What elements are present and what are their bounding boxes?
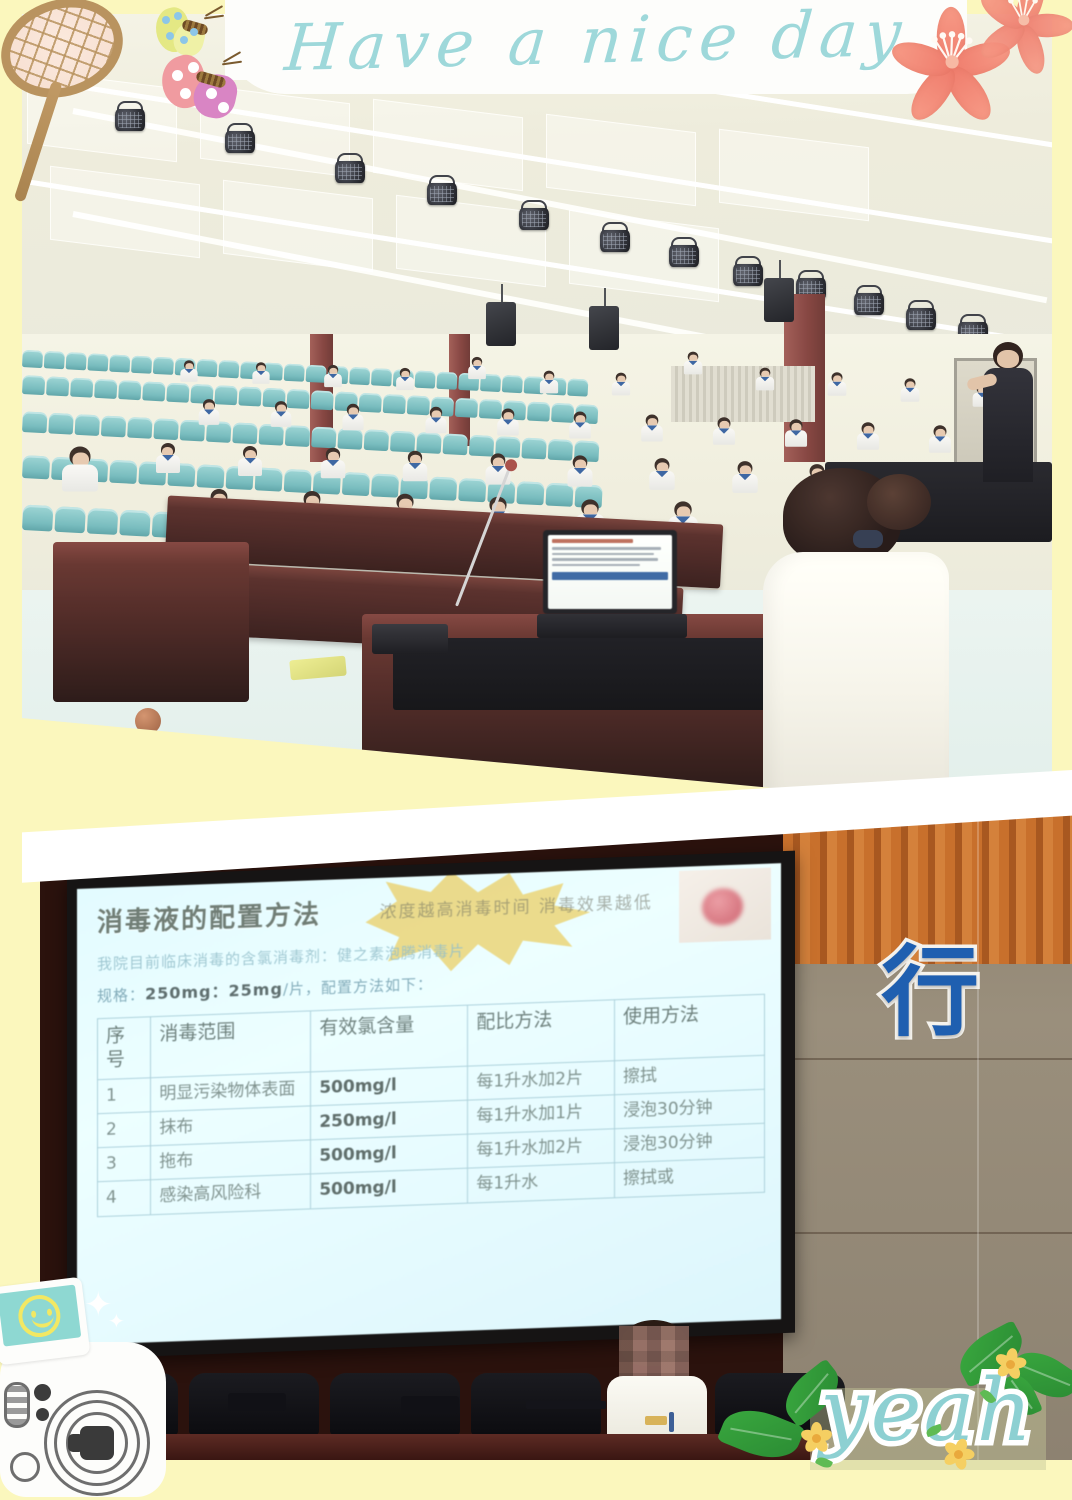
side-desk xyxy=(53,542,249,702)
yeah-text: yeah xyxy=(820,1368,1034,1454)
cell-chlorine: 250mg/l xyxy=(311,1100,468,1140)
th-chlorine: 有效氯含量 xyxy=(311,1005,468,1071)
cell-chlorine: 500mg/l xyxy=(311,1168,468,1208)
cell-ratio: 每1升水加2片 xyxy=(468,1060,615,1100)
audience-member xyxy=(180,360,197,382)
cell-index: 2 xyxy=(97,1111,150,1147)
stage-light xyxy=(904,300,938,330)
cell-usage: 浸泡30分钟 xyxy=(614,1089,764,1129)
polaroid-photo xyxy=(0,1277,90,1366)
spec-value: 250mg：25mg xyxy=(145,979,283,1003)
camera-sensor-icon xyxy=(36,1408,49,1421)
wall-character-xing: 行 xyxy=(881,944,979,1042)
audience-member xyxy=(425,407,446,433)
audience-member-front-left xyxy=(62,447,98,492)
cell-index: 3 xyxy=(97,1145,150,1181)
flower-icon xyxy=(800,1422,832,1454)
camera-flash-icon xyxy=(4,1382,30,1428)
flower-icon xyxy=(942,1438,974,1470)
audience-member xyxy=(396,368,414,390)
audience-member xyxy=(199,399,220,425)
th-ratio: 配比方法 xyxy=(468,999,615,1065)
audience-member xyxy=(320,448,344,479)
cell-scope: 拖布 xyxy=(151,1140,311,1180)
audience-member xyxy=(567,456,592,487)
desk-microphone xyxy=(228,1393,286,1411)
scrapbook-page: 行 消毒液的配置方法 浓度越高消毒时间 消毒效果越低 我院目前临床消毒的含氯消毒… xyxy=(0,0,1072,1500)
butterfly-net-icon xyxy=(0,0,144,204)
cell-scope: 抹布 xyxy=(151,1105,311,1145)
audience-member xyxy=(343,404,364,430)
sparkle-icon: ✦ xyxy=(108,1312,125,1332)
cell-chlorine: 500mg/l xyxy=(311,1134,468,1174)
cell-ratio: 每1升水 xyxy=(468,1163,615,1203)
th-scope: 消毒范围 xyxy=(151,1011,311,1077)
cell-ratio: 每1升水加2片 xyxy=(468,1128,615,1168)
name-badge xyxy=(645,1416,667,1425)
camera-sensor-icon xyxy=(34,1384,51,1401)
cell-index: 4 xyxy=(97,1180,150,1216)
audience-member xyxy=(324,365,342,387)
lily-flower xyxy=(974,0,1072,71)
spec-prefix: 规格： xyxy=(97,985,145,1005)
stage-light xyxy=(333,153,367,183)
disinfectant-table: 序号 消毒范围 有效氯含量 配比方法 使用方法 1 明显 xyxy=(97,993,765,1216)
photo-collage: 行 消毒液的配置方法 浓度越高消毒时间 消毒效果越低 我院目前临床消毒的含氯消毒… xyxy=(22,0,1072,1460)
stage-light xyxy=(852,285,886,315)
audience-member xyxy=(271,401,292,427)
stage-light xyxy=(425,175,459,205)
butterfly-pink-icon xyxy=(160,52,256,122)
instant-camera-sticker: ✦ ✦ xyxy=(0,1268,172,1500)
audience-member xyxy=(540,370,558,393)
audience-member xyxy=(900,378,919,401)
nurse-presenter xyxy=(749,468,949,798)
spec-suffix: /片，配置方法如下： xyxy=(283,975,433,999)
audience-member xyxy=(684,351,702,374)
microphone-base xyxy=(372,624,448,654)
stage-light xyxy=(667,237,701,267)
cell-usage: 浸泡30分钟 xyxy=(614,1123,764,1163)
stage-light xyxy=(517,200,551,230)
audience-member xyxy=(252,363,269,385)
staff-member-standing xyxy=(979,342,1037,482)
audience-member xyxy=(828,373,847,396)
th-usage: 使用方法 xyxy=(614,994,764,1060)
cell-scope: 感染高风险科 xyxy=(151,1174,311,1214)
audience-member xyxy=(641,414,663,441)
audience-member xyxy=(857,422,879,450)
camera-lens-icon xyxy=(80,1426,114,1460)
cell-chlorine: 500mg/l xyxy=(311,1065,468,1105)
th-index: 序号 xyxy=(97,1016,150,1078)
projection-screen-frame: 消毒液的配置方法 浓度越高消毒时间 消毒效果越低 我院目前临床消毒的含氯消毒剂：… xyxy=(67,850,795,1359)
speaker-box xyxy=(764,278,794,322)
cell-usage: 擦拭 xyxy=(614,1054,764,1094)
audience-member xyxy=(468,357,486,379)
lily-flowers-icon xyxy=(888,0,1072,124)
cell-usage: 擦拭或 xyxy=(614,1157,764,1197)
stage-light xyxy=(223,123,257,153)
audience-member xyxy=(785,420,807,448)
cell-index: 1 xyxy=(97,1077,150,1113)
audience-member xyxy=(403,451,427,482)
audience-member xyxy=(497,409,519,436)
audience-member xyxy=(569,412,591,439)
audience-member xyxy=(650,458,675,490)
laptop-lid xyxy=(526,1401,606,1409)
audience-member xyxy=(713,417,735,445)
desk-microphone xyxy=(401,1396,459,1414)
smiley-face-icon xyxy=(16,1292,63,1339)
audience-member xyxy=(756,368,774,391)
audience-member xyxy=(612,373,630,396)
audience-member xyxy=(929,425,951,453)
flower-icon xyxy=(994,1348,1026,1380)
cell-scope: 明显污染物体表面 xyxy=(151,1071,311,1111)
yeah-sticker: yeah xyxy=(692,1330,1072,1500)
audience-member xyxy=(156,443,180,473)
projection-screen: 消毒液的配置方法 浓度越高消毒时间 消毒效果越低 我院目前临床消毒的含氯消毒剂：… xyxy=(77,863,781,1345)
photo-auditorium xyxy=(22,14,1052,814)
camera-viewfinder-icon xyxy=(10,1452,40,1482)
stage-light xyxy=(598,222,632,252)
presentation-laptop xyxy=(537,530,687,638)
audience-member xyxy=(238,446,262,476)
stage-light xyxy=(731,256,765,286)
cell-ratio: 每1升水加1片 xyxy=(468,1094,615,1134)
